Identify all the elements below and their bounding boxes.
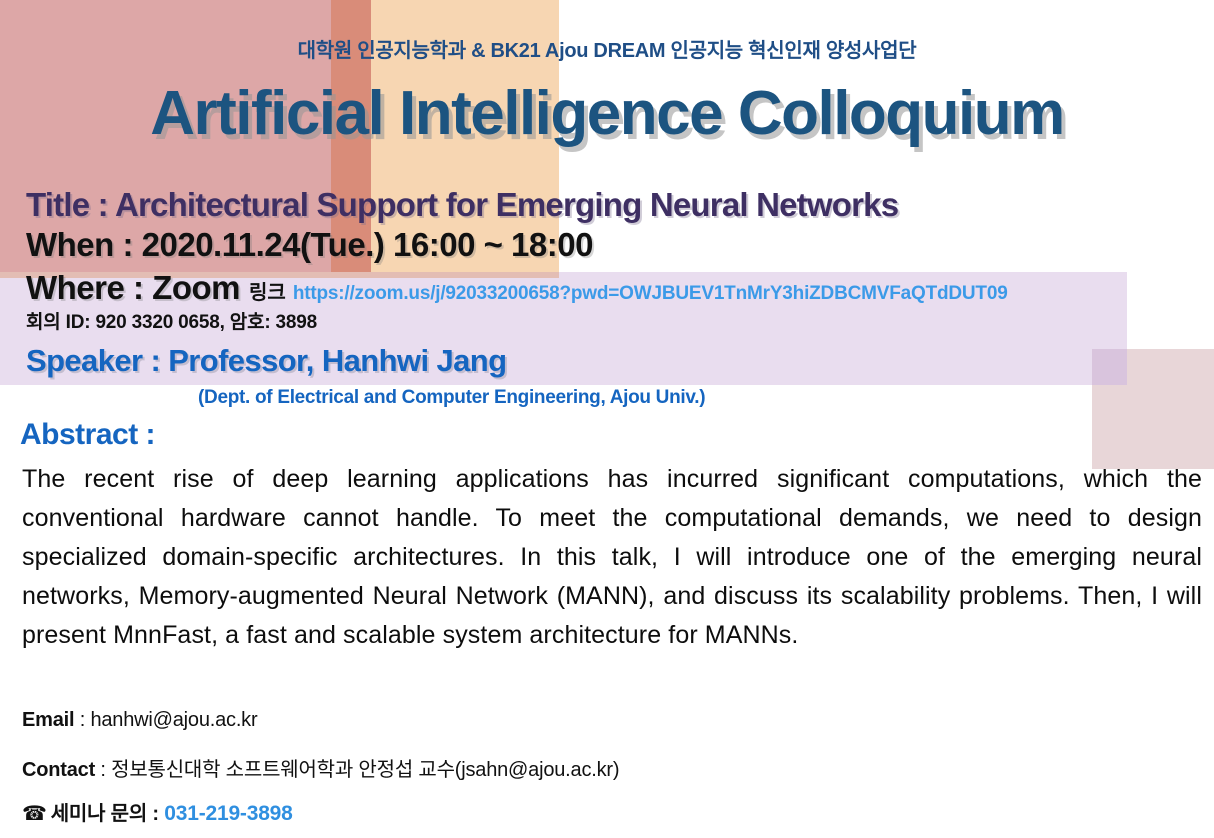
email-value: : hanhwi@ajou.ac.kr [74, 709, 257, 731]
phone-row: ☎세미나 문의 : 031-219-3898 [22, 797, 293, 826]
zoom-link[interactable]: https://zoom.us/j/92033200658?pwd=OWJBUE… [293, 283, 1008, 305]
talk-title: Title : Architectural Support for Emergi… [26, 186, 898, 224]
abstract-text: The recent rise of deep learning applica… [22, 460, 1202, 655]
location-label: Where : Zoom [26, 269, 240, 307]
zoom-meeting-info: 회의 ID: 920 3320 0658, 암호: 3898 [26, 307, 317, 334]
background-block-rosy-overlap [1092, 349, 1127, 385]
speaker-department: (Dept. of Electrical and Computer Engine… [198, 387, 705, 409]
phone-number: 031-219-3898 [164, 802, 292, 825]
talk-datetime: When : 2020.11.24(Tue.) 16:00 ~ 18:00 [26, 226, 593, 264]
contact-value: : 정보통신대학 소프트웨어학과 안정섭 교수(jsahn@ajou.ac.kr… [95, 759, 619, 781]
telephone-icon: ☎ [22, 803, 47, 825]
contact-label: Contact [22, 759, 95, 781]
organizer-subheader: 대학원 인공지능학과 & BK21 Ajou DREAM 인공지능 혁신인재 양… [0, 34, 1214, 63]
abstract-heading: Abstract : [20, 418, 155, 452]
phone-label: 세미나 문의 : [51, 803, 159, 825]
page-title: Artificial Intelligence Colloquium [0, 78, 1214, 149]
location-link-word: 링크 [249, 276, 286, 305]
background-block-rosy [1092, 349, 1214, 469]
email-row: Email : hanhwi@ajou.ac.kr [22, 709, 257, 732]
email-label: Email [22, 709, 74, 731]
speaker-name: Speaker : Professor, Hanhwi Jang [26, 343, 506, 379]
colloquium-poster: 대학원 인공지능학과 & BK21 Ajou DREAM 인공지능 혁신인재 양… [0, 0, 1214, 838]
talk-location-row: Where : Zoom 링크 https://zoom.us/j/920332… [26, 269, 1008, 307]
contact-row: Contact : 정보통신대학 소프트웨어학과 안정섭 교수(jsahn@aj… [22, 753, 619, 782]
